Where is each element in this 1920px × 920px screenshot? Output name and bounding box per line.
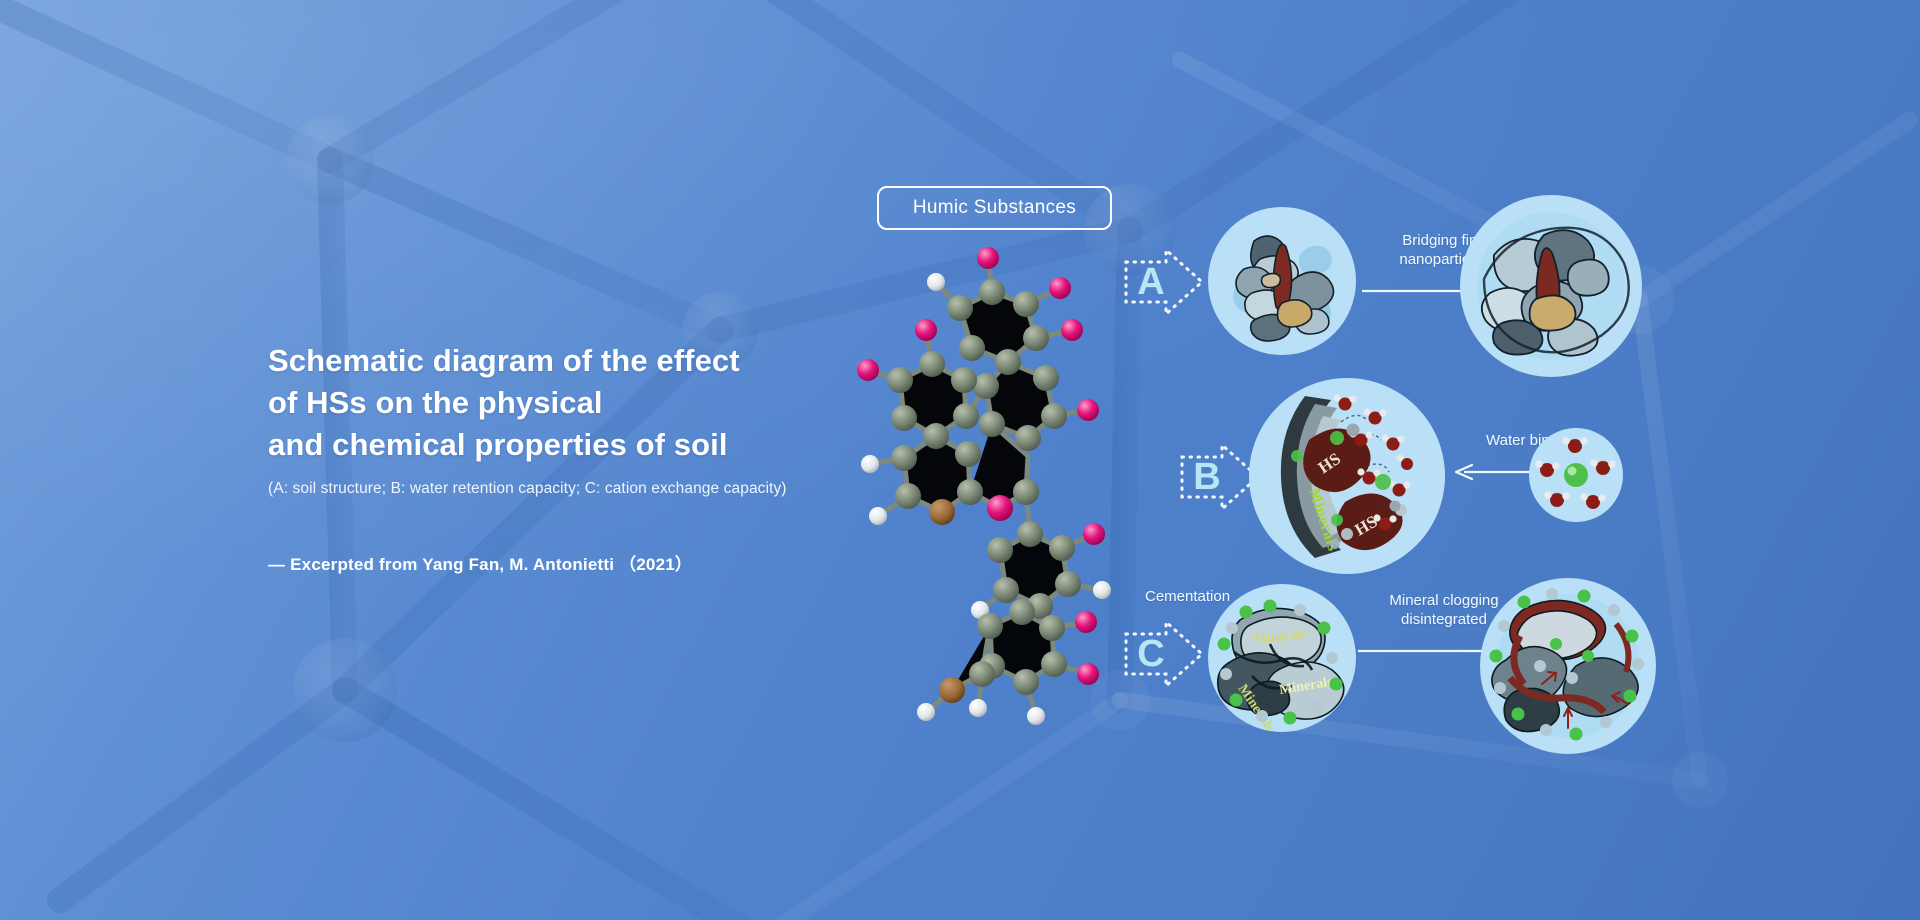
circle-b-hydrated-cation[interactable] — [1529, 428, 1623, 522]
cemented-minerals-illustration-icon: Minerals Minerals Minerals — [1208, 584, 1356, 732]
poster-canvas: Schematic diagram of the effect of HSs o… — [0, 0, 1920, 920]
page-title: Schematic diagram of the effect of HSs o… — [268, 340, 908, 466]
headline-line-2: of HSs on the physical — [268, 382, 908, 424]
headline-line-1: Schematic diagram of the effect — [268, 340, 908, 382]
source-attribution: — Excerpted from Yang Fan, M. Antonietti… — [268, 550, 908, 575]
chevron-c-arrow-right-dotted-icon[interactable] — [1122, 618, 1206, 690]
circle-b-main[interactable]: Minerals HS HS — [1249, 378, 1445, 574]
circle-a-before[interactable] — [1208, 207, 1356, 355]
headline-block: Schematic diagram of the effect of HSs o… — [268, 340, 908, 575]
disintegrated-clogging-illustration-icon — [1480, 578, 1656, 754]
chevron-a-arrow-right-dotted-icon[interactable] — [1122, 246, 1206, 318]
humic-substances-label: Humic Substances — [913, 197, 1076, 219]
circle-c-after[interactable] — [1480, 578, 1656, 754]
water-retention-illustration-icon: Minerals HS HS — [1249, 378, 1445, 574]
soil-fragments-illustration-icon — [1208, 207, 1356, 355]
bridged-aggregate-illustration-icon — [1460, 195, 1642, 377]
humic-substances-badge[interactable]: Humic Substances — [877, 186, 1112, 230]
hydrated-cation-illustration-icon — [1529, 428, 1623, 522]
subtitle-legend: (A: soil structure; B: water retention c… — [268, 480, 908, 498]
cementation-label: Cementation — [1145, 588, 1230, 605]
circle-a-after[interactable] — [1460, 195, 1642, 377]
headline-line-3: and chemical properties of soil — [268, 424, 908, 466]
circle-c-before[interactable]: Minerals Minerals Minerals — [1208, 584, 1356, 732]
